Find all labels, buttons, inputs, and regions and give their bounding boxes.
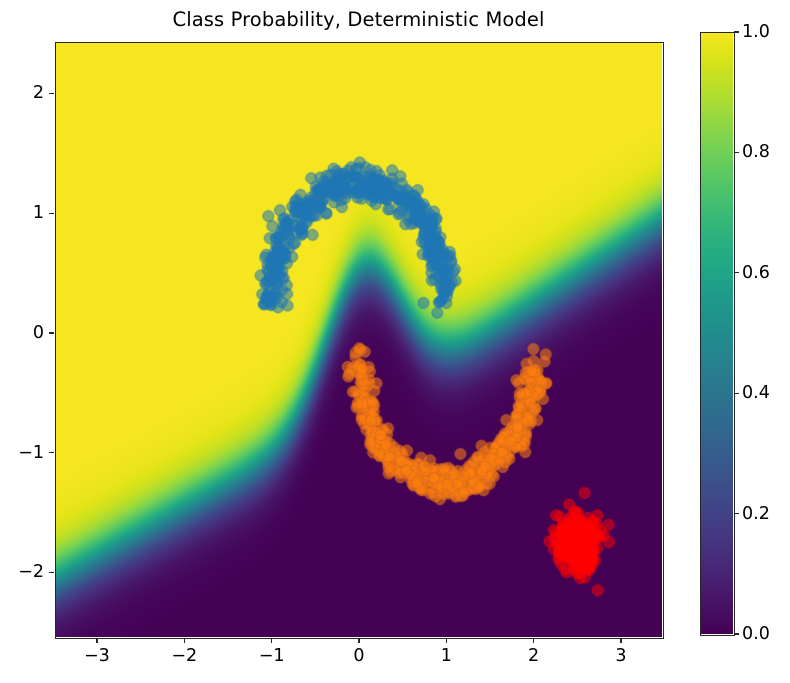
y-tick-label: 2 [0,83,44,103]
colorbar-tick-mark [734,393,739,394]
x-tick-mark [358,638,359,643]
x-tick-mark [271,638,272,643]
colorbar-tick-label: 0.8 [742,142,770,162]
colorbar-tick-mark [734,633,739,634]
colorbar-tick-label: 1.0 [742,22,770,42]
x-tick-mark [533,638,534,643]
x-tick-label: 1 [441,646,452,666]
x-tick-mark [446,638,447,643]
x-tick-label: 0 [353,646,364,666]
colorbar-tick-mark [734,31,739,32]
x-tick-label: −2 [171,646,197,666]
y-tick-label: −2 [0,562,44,582]
colorbar-tick-mark [734,272,739,273]
colorbar-gradient [700,32,733,634]
y-tick-label: −1 [0,443,44,463]
page-title: Class Probability, Deterministic Model [55,8,662,31]
y-tick-mark [49,93,54,94]
figure-canvas: Class Probability, Deterministic Model −… [0,0,790,683]
colorbar-tick-label: 0.6 [742,263,770,283]
x-tick-label: −1 [259,646,285,666]
y-tick-mark [49,332,54,333]
x-tick-mark [184,638,185,643]
y-tick-mark [49,572,54,573]
colorbar-tick-mark [734,152,739,153]
x-tick-mark [620,638,621,643]
colorbar-tick-label: 0.2 [742,504,770,524]
colorbar-tick-label: 0.4 [742,383,770,403]
y-tick-mark [49,213,54,214]
y-tick-mark [49,452,54,453]
x-tick-mark [96,638,97,643]
x-tick-label: −3 [84,646,110,666]
x-tick-label: 3 [615,646,626,666]
y-tick-label: 0 [0,323,44,343]
colorbar-tick-label: 0.0 [742,624,770,644]
probability-field-heatmap [55,42,662,637]
x-tick-label: 2 [528,646,539,666]
y-tick-label: 1 [0,203,44,223]
colorbar-tick-mark [734,513,739,514]
